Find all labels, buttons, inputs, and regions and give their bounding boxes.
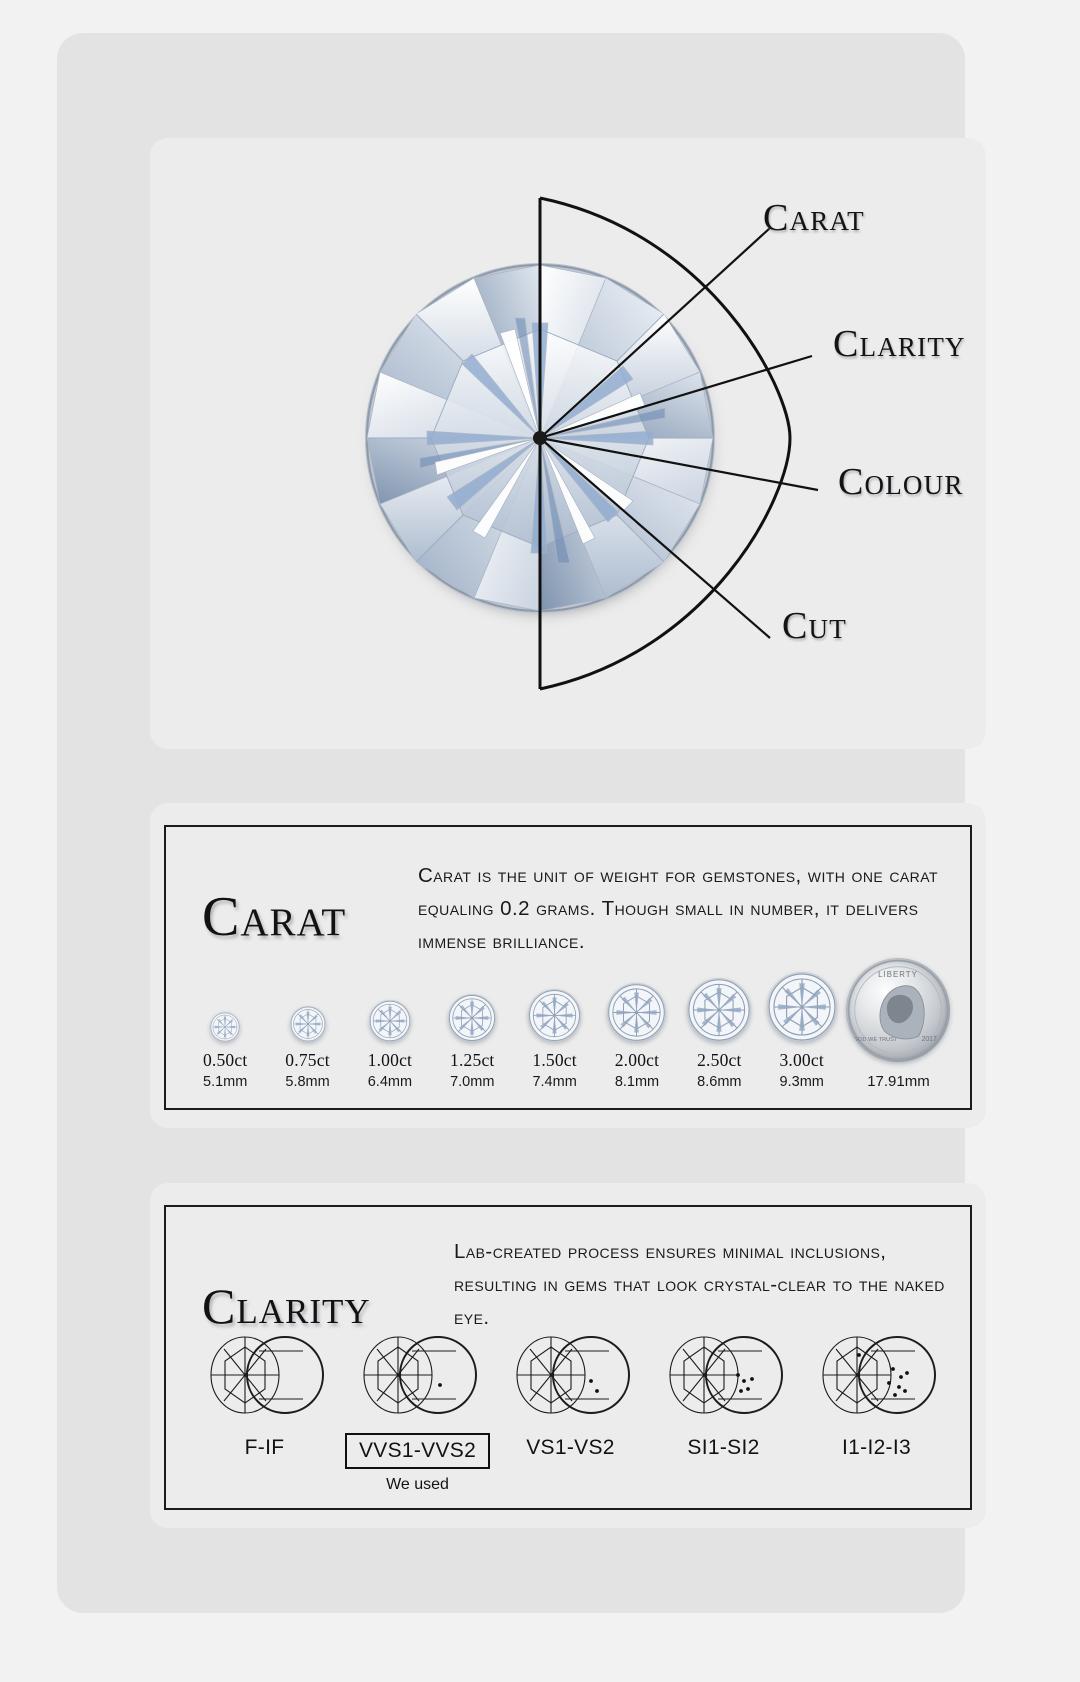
coin-reference-item: LIBERTY IN GOD WE TRUST 2017 17.91mm bbox=[843, 955, 954, 1090]
dime-coin: LIBERTY IN GOD WE TRUST 2017 bbox=[846, 958, 950, 1062]
diamond-stone bbox=[767, 972, 837, 1042]
clarity-grade-item[interactable]: VS1-VS2 bbox=[494, 1329, 647, 1463]
carat-diameter-label: 7.4mm bbox=[532, 1074, 576, 1090]
svg-text:IN GOD WE TRUST: IN GOD WE TRUST bbox=[847, 1037, 898, 1043]
clarity-frame: Clarity Lab-created process ensures mini… bbox=[164, 1205, 972, 1510]
carat-weight-label: 1.50ct bbox=[532, 1050, 576, 1071]
carat-panel: Carat Carat is the unit of weight for ge… bbox=[150, 803, 986, 1128]
carat-diameter-label: 8.1mm bbox=[615, 1074, 659, 1090]
clarity-panel: Clarity Lab-created process ensures mini… bbox=[150, 1183, 986, 1528]
diamond-stone bbox=[290, 1006, 326, 1042]
clarity-description: Lab-created process ensures minimal incl… bbox=[454, 1235, 959, 1334]
carat-heading: Carat bbox=[202, 885, 346, 949]
clarity-grade-label[interactable]: F-IF bbox=[235, 1433, 295, 1463]
carat-size-item: 3.00ct 9.3mm bbox=[761, 955, 843, 1090]
brilliant-cut-icon bbox=[528, 989, 581, 1042]
diamond-body bbox=[365, 263, 715, 613]
carat-weight-label: 1.25ct bbox=[450, 1050, 494, 1071]
carat-size-item: 0.50ct 5.1mm bbox=[184, 955, 266, 1090]
diamond-stone bbox=[607, 983, 666, 1042]
carat-size-scale: 0.50ct 5.1mm 0.75ct 5.8mm bbox=[184, 955, 954, 1090]
clarity-heading: Clarity bbox=[202, 1277, 371, 1335]
carat-weight-label: 0.50ct bbox=[203, 1050, 247, 1071]
clarity-grade-item[interactable]: SI1-SI2 bbox=[647, 1329, 800, 1463]
carat-weight-label: 3.00ct bbox=[779, 1050, 823, 1071]
stone-slot bbox=[369, 960, 411, 1042]
clarity-grade-item[interactable]: F-IF bbox=[188, 1329, 341, 1463]
hero-stage: Carat Clarity Colour Cut bbox=[150, 138, 986, 749]
carat-diameter-label: 8.6mm bbox=[697, 1074, 741, 1090]
carat-diameter-label: 5.1mm bbox=[203, 1074, 247, 1090]
clarity-diagram-icon bbox=[199, 1329, 331, 1421]
clarity-illustration bbox=[811, 1329, 943, 1421]
clarity-illustration bbox=[199, 1329, 331, 1421]
clarity-diagram-icon bbox=[352, 1329, 484, 1421]
brilliant-cut-icon bbox=[767, 972, 837, 1042]
stone-slot bbox=[448, 960, 496, 1042]
callout-label-cut: Cut bbox=[782, 604, 847, 648]
coin-diameter-label: 17.91mm bbox=[867, 1073, 930, 1090]
clarity-illustration bbox=[658, 1329, 790, 1421]
carat-size-item: 0.75ct 5.8mm bbox=[266, 955, 348, 1090]
carat-size-item: 2.50ct 8.6mm bbox=[678, 955, 760, 1090]
dime-coin-icon: LIBERTY IN GOD WE TRUST 2017 bbox=[846, 958, 950, 1062]
diamond-stone bbox=[687, 978, 751, 1042]
diamond-stone bbox=[448, 994, 496, 1042]
clarity-grade-label[interactable]: I1-I2-I3 bbox=[832, 1433, 921, 1463]
carat-size-item: 2.00ct 8.1mm bbox=[596, 955, 678, 1090]
svg-text:LIBERTY: LIBERTY bbox=[879, 970, 919, 979]
clarity-diagram-icon bbox=[658, 1329, 790, 1421]
clarity-grade-label[interactable]: SI1-SI2 bbox=[677, 1433, 769, 1463]
callout-label-clarity: Clarity bbox=[833, 322, 966, 366]
carat-size-item: 1.50ct 7.4mm bbox=[513, 955, 595, 1090]
selected-grade-note: We used bbox=[386, 1476, 449, 1494]
carat-size-item: 1.00ct 6.4mm bbox=[349, 955, 431, 1090]
carat-diameter-label: 5.8mm bbox=[285, 1074, 329, 1090]
brilliant-cut-icon bbox=[448, 994, 496, 1042]
carat-frame: Carat Carat is the unit of weight for ge… bbox=[164, 825, 972, 1110]
stone-slot bbox=[767, 960, 837, 1042]
clarity-diagram-icon bbox=[505, 1329, 637, 1421]
infographic-page: Carat Clarity Colour Cut Carat Carat is … bbox=[57, 33, 965, 1613]
clarity-illustration bbox=[505, 1329, 637, 1421]
carat-weight-label: 0.75ct bbox=[285, 1050, 329, 1071]
carat-weight-label: 2.50ct bbox=[697, 1050, 741, 1071]
hero-panel: Carat Clarity Colour Cut bbox=[150, 138, 986, 749]
hero-diamond bbox=[365, 263, 715, 613]
carat-diameter-label: 9.3mm bbox=[780, 1074, 824, 1090]
stone-slot bbox=[210, 960, 240, 1042]
clarity-grade-item[interactable]: I1-I2-I3 bbox=[800, 1329, 953, 1463]
brilliant-cut-icon bbox=[210, 1012, 240, 1042]
callout-label-carat: Carat bbox=[763, 196, 865, 240]
callout-label-colour: Colour bbox=[838, 460, 964, 504]
svg-text:2017: 2017 bbox=[922, 1036, 938, 1043]
carat-diameter-label: 6.4mm bbox=[368, 1074, 412, 1090]
carat-weight-label: 2.00ct bbox=[615, 1050, 659, 1071]
brilliant-cut-icon bbox=[687, 978, 751, 1042]
brilliant-cut-icon bbox=[290, 1006, 326, 1042]
diamond-stone bbox=[369, 1000, 411, 1042]
stone-slot bbox=[607, 960, 666, 1042]
stone-slot bbox=[290, 960, 326, 1042]
clarity-grade-label[interactable]: VS1-VS2 bbox=[516, 1433, 624, 1463]
stone-slot bbox=[528, 960, 581, 1042]
diamond-stone bbox=[528, 989, 581, 1042]
carat-description: Carat is the unit of weight for gemstone… bbox=[418, 859, 958, 958]
carat-size-item: 1.25ct 7.0mm bbox=[431, 955, 513, 1090]
clarity-grade-item[interactable]: VVS1-VVS2 We used bbox=[341, 1329, 494, 1494]
carat-weight-label: 1.00ct bbox=[368, 1050, 412, 1071]
diamond-stone bbox=[210, 1012, 240, 1042]
stone-slot bbox=[687, 960, 751, 1042]
diamond-facets-icon bbox=[365, 263, 715, 613]
clarity-grade-scale: F-IF VVS1-VVS2 We used VS bbox=[188, 1329, 953, 1489]
carat-diameter-label: 7.0mm bbox=[450, 1074, 494, 1090]
brilliant-cut-icon bbox=[369, 1000, 411, 1042]
clarity-diagram-icon bbox=[811, 1329, 943, 1421]
clarity-grade-label[interactable]: VVS1-VVS2 bbox=[345, 1433, 490, 1469]
clarity-illustration bbox=[352, 1329, 484, 1421]
brilliant-cut-icon bbox=[607, 983, 666, 1042]
